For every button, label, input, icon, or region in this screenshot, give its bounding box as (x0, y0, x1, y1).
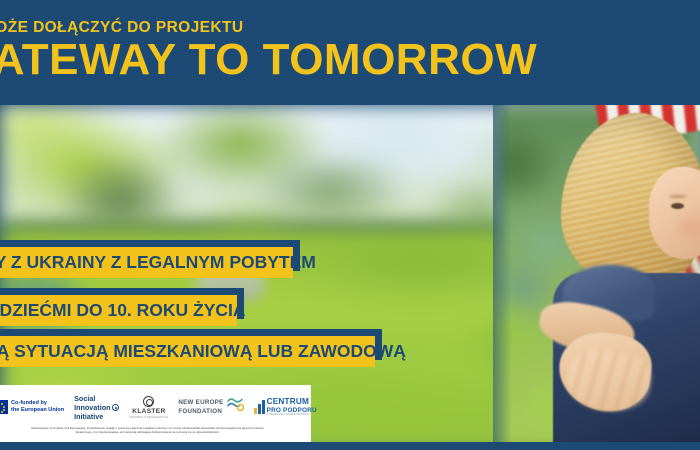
page-title: GATEWAY TO TOMORROW (0, 38, 537, 82)
sii-line3: Initiative (74, 412, 119, 421)
sii-logo-text: Social Innovation Initiative (74, 394, 119, 421)
logo-centrum-pro-podporu: CENTRUM PRO PODPORU INTEGRACE A ZAMĚSTNA… (254, 397, 317, 417)
klaster-emblem-icon (143, 396, 154, 407)
sii-line1: Social (74, 394, 119, 403)
eu-logo-line1: Co-funded by (11, 400, 64, 407)
eu-flag-icon (0, 400, 8, 414)
poster-header: MOŻE DOŁĄCZYĆ DO PROJEKTU GATEWAY TO TOM… (0, 0, 700, 105)
logo-row: Co-funded by the European Union Social I… (0, 389, 311, 425)
criteria-band-1: TY Z UKRAINY Z LEGALNYM POBYTEM (0, 247, 293, 278)
nef-waves-icon (227, 397, 244, 417)
centrum-line3: INTEGRACE A ZAMĚSTNANOSTI (267, 414, 317, 417)
eu-logo-line2: the European Union (11, 407, 64, 414)
logo-klaster: KLASTER INNOWACJI SPOŁECZNYCH (129, 396, 168, 419)
sii-line2-wrap: Innovation (74, 403, 119, 412)
centrum-line1: CENTRUM (267, 397, 317, 406)
poster: MOŻE DOŁĄCZYĆ DO PROJEKTU GATEWAY TO TOM… (0, 0, 700, 450)
criteria-band-3: NĄ SYTUACJĄ MIESZKANIOWĄ LUB ZAWODOWĄ (0, 336, 375, 367)
nef-logo-text: NEW EUROPE FOUNDATION (178, 398, 223, 417)
logo-social-innovation-initiative: Social Innovation Initiative (74, 394, 119, 421)
criteria-band-2: Z DZIEĆMI DO 10. ROKU ŻYCIA (0, 295, 237, 326)
klaster-subtitle: INNOWACJI SPOŁECZNYCH (129, 416, 168, 419)
sii-badge-icon (112, 404, 119, 411)
child-photo-edge-vignette (493, 105, 700, 442)
footer-logo-panel: Co-funded by the European Union Social I… (0, 385, 311, 442)
logo-european-union: Co-funded by the European Union (0, 400, 64, 415)
klaster-name: KLASTER (132, 408, 165, 415)
funding-disclaimer: Sfinansowane ze środków Unii Europejskie… (0, 425, 311, 442)
bottom-strip (0, 442, 700, 450)
child-photo (493, 105, 700, 442)
sii-line2: Innovation (74, 403, 110, 412)
eu-logo-text: Co-funded by the European Union (11, 400, 64, 415)
centrum-logo-text: CENTRUM PRO PODPORU INTEGRACE A ZAMĚSTNA… (267, 397, 317, 417)
disclaimer-line-2: Społecznego. Ani Unia Europejska, ani in… (0, 430, 305, 434)
nef-line2: FOUNDATION (178, 407, 223, 416)
logo-new-europe-foundation: NEW EUROPE FOUNDATION (178, 397, 243, 417)
nef-line1: NEW EUROPE (178, 398, 223, 407)
centrum-bars-icon (254, 400, 265, 414)
